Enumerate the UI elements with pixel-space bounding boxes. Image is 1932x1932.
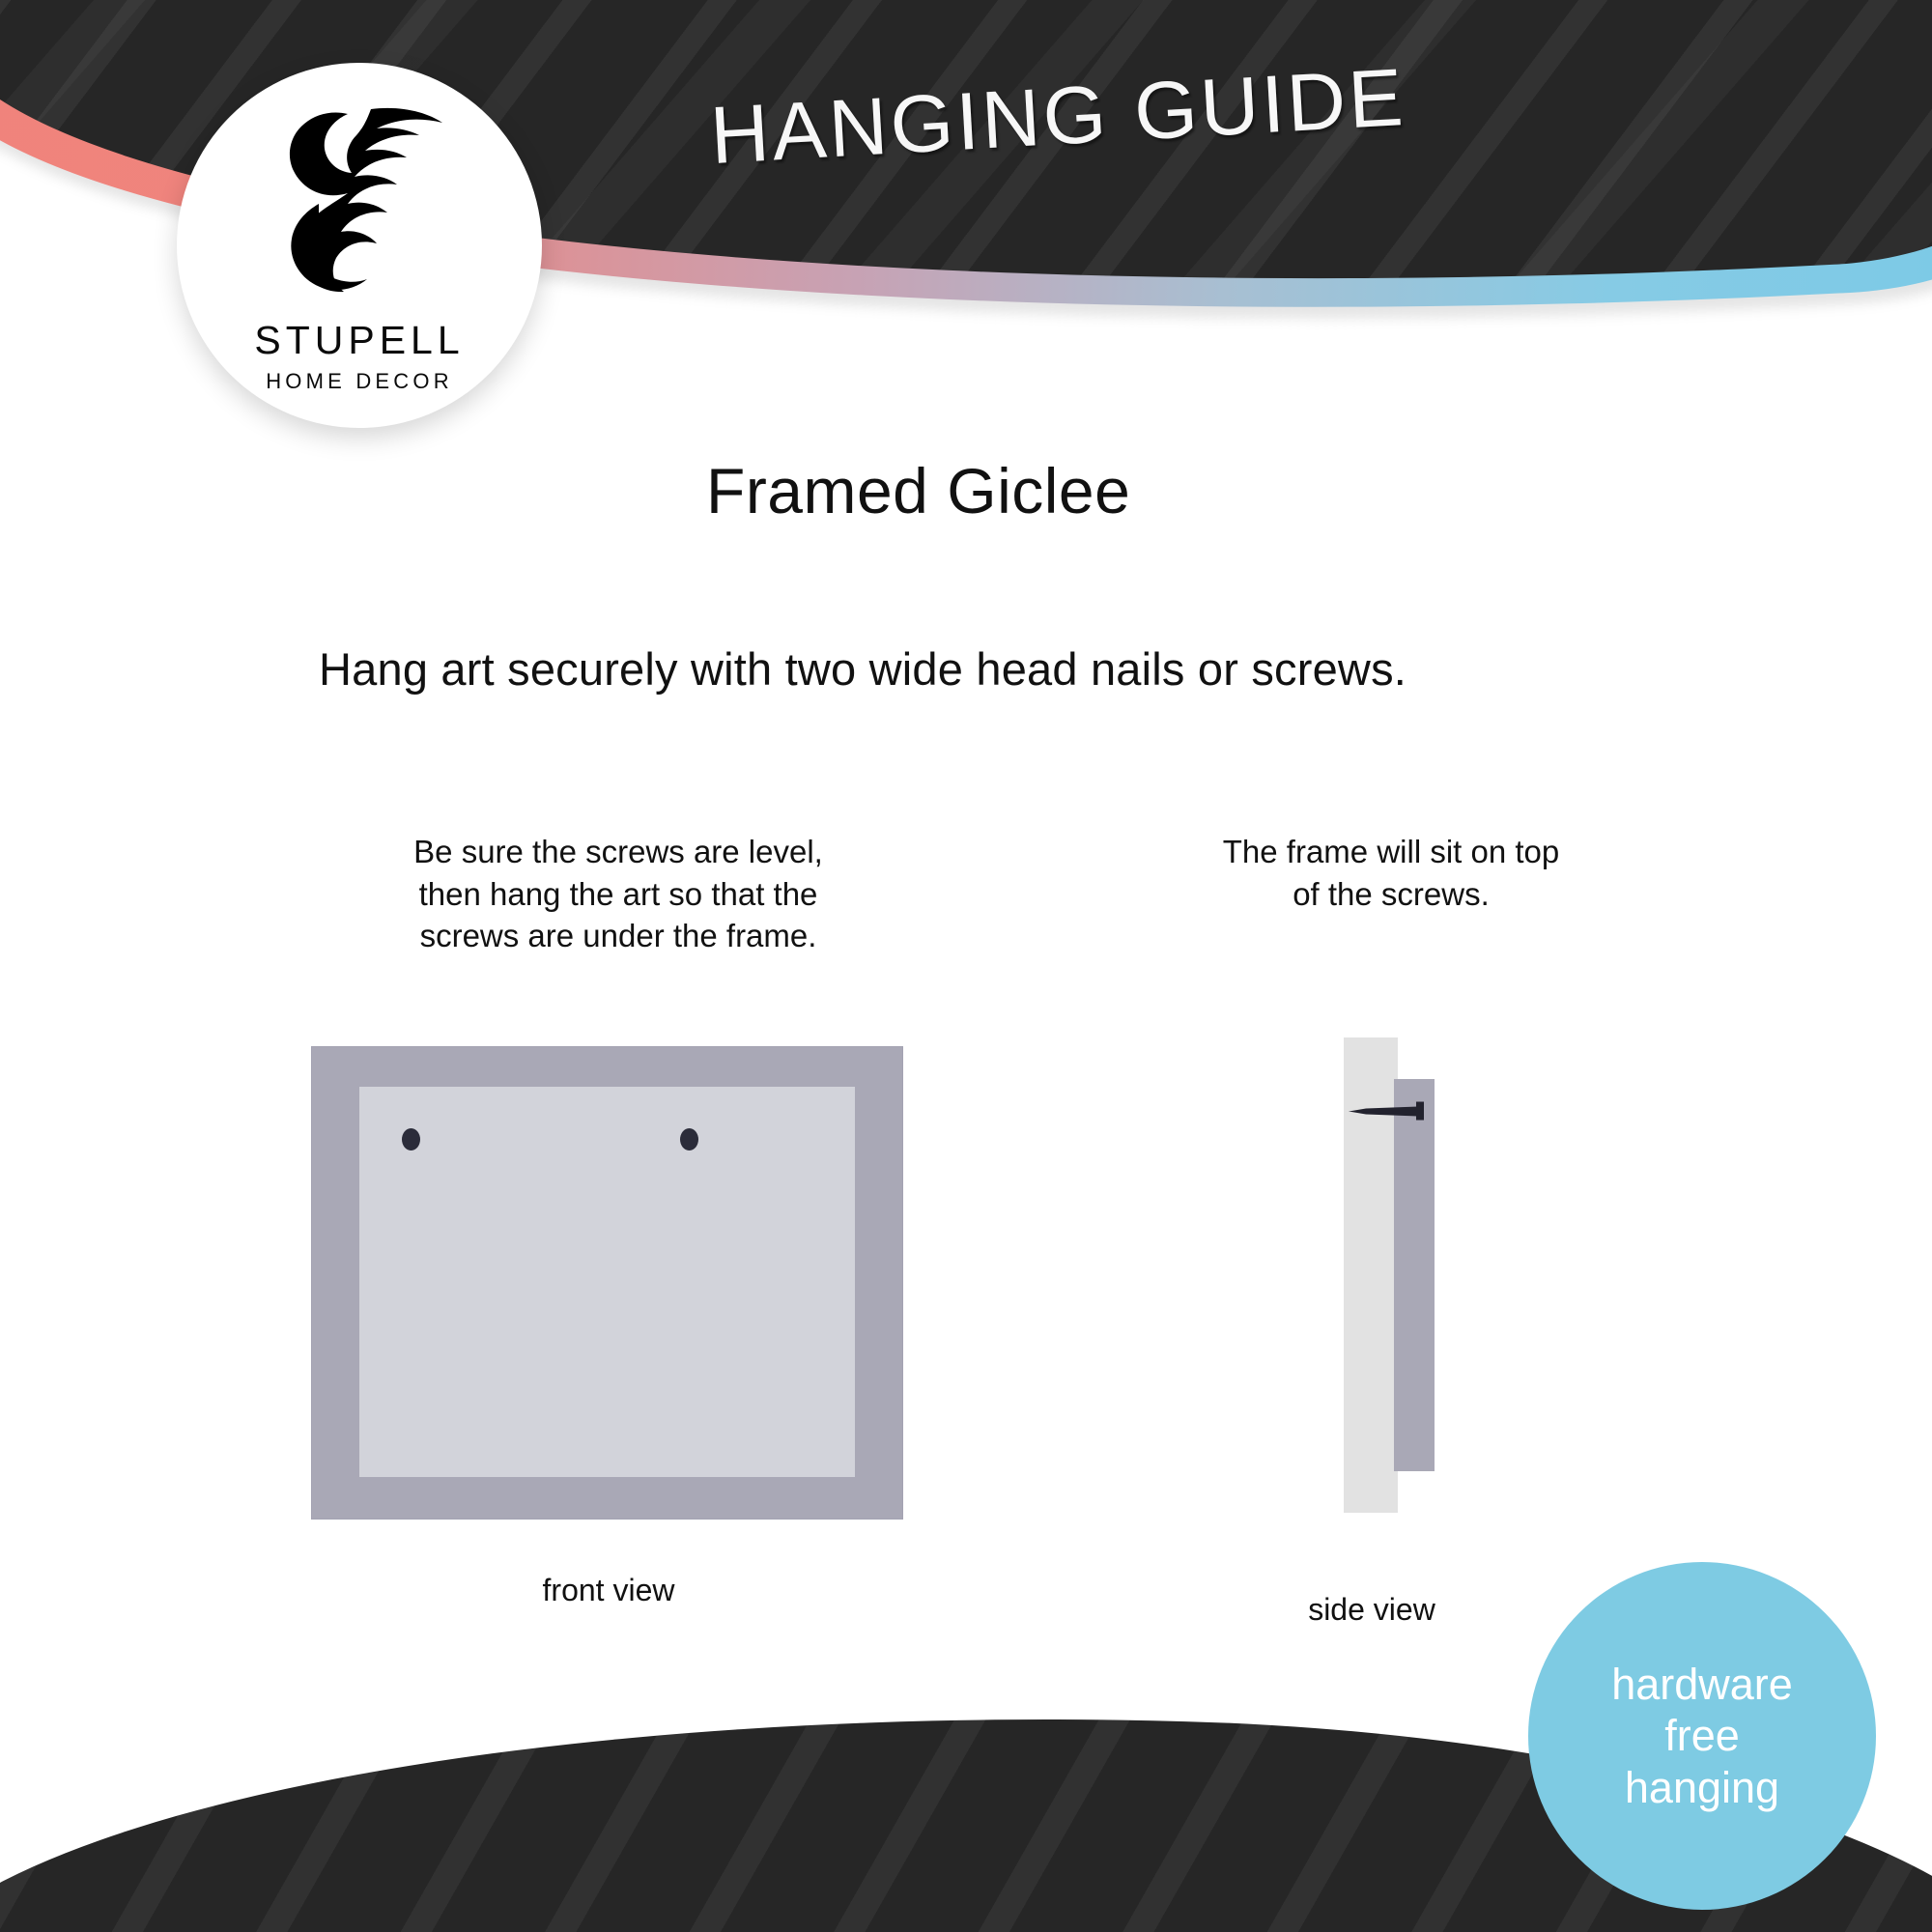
badge-line-1: hardware <box>1611 1659 1793 1710</box>
side-caption-line-2: of the screws. <box>1145 873 1637 916</box>
side-view-caption: The frame will sit on top of the screws. <box>1145 831 1637 915</box>
side-view-label: side view <box>1207 1592 1536 1628</box>
screw-dot-right <box>680 1128 698 1151</box>
front-view-panel: Be sure the screws are level, then hang … <box>299 831 937 957</box>
product-type-heading: Framed Giclee <box>706 454 1130 527</box>
front-caption-line-3: screws are under the frame. <box>299 915 937 957</box>
side-view-panel: The frame will sit on top of the screws. <box>1145 831 1637 915</box>
front-view-label: front view <box>415 1573 802 1608</box>
side-view-frame <box>1394 1079 1435 1471</box>
front-view-caption: Be sure the screws are level, then hang … <box>299 831 937 957</box>
front-caption-line-1: Be sure the screws are level, <box>299 831 937 873</box>
brand-logo-badge: STUPELL HOME DECOR <box>177 63 542 428</box>
front-view-frame-illustration <box>311 1046 903 1520</box>
side-caption-line-1: The frame will sit on top <box>1145 831 1637 873</box>
badge-line-3: hanging <box>1625 1762 1779 1813</box>
nail-icon <box>1349 1100 1437 1122</box>
hardware-free-hanging-badge: hardware free hanging <box>1528 1562 1876 1910</box>
front-caption-line-2: then hang the art so that the <box>299 873 937 916</box>
lead-instruction: Hang art securely with two wide head nai… <box>319 642 1406 696</box>
hanging-guide-page: HANGING GUIDE STUPELL HOME DECOR Framed … <box>0 0 1932 1932</box>
swan-logo-icon <box>263 103 456 308</box>
brand-tagline: HOME DECOR <box>266 369 453 394</box>
badge-line-2: free <box>1664 1710 1740 1761</box>
screw-dot-left <box>402 1128 420 1151</box>
brand-wordmark: STUPELL <box>254 318 464 363</box>
front-view-mat <box>359 1087 855 1477</box>
